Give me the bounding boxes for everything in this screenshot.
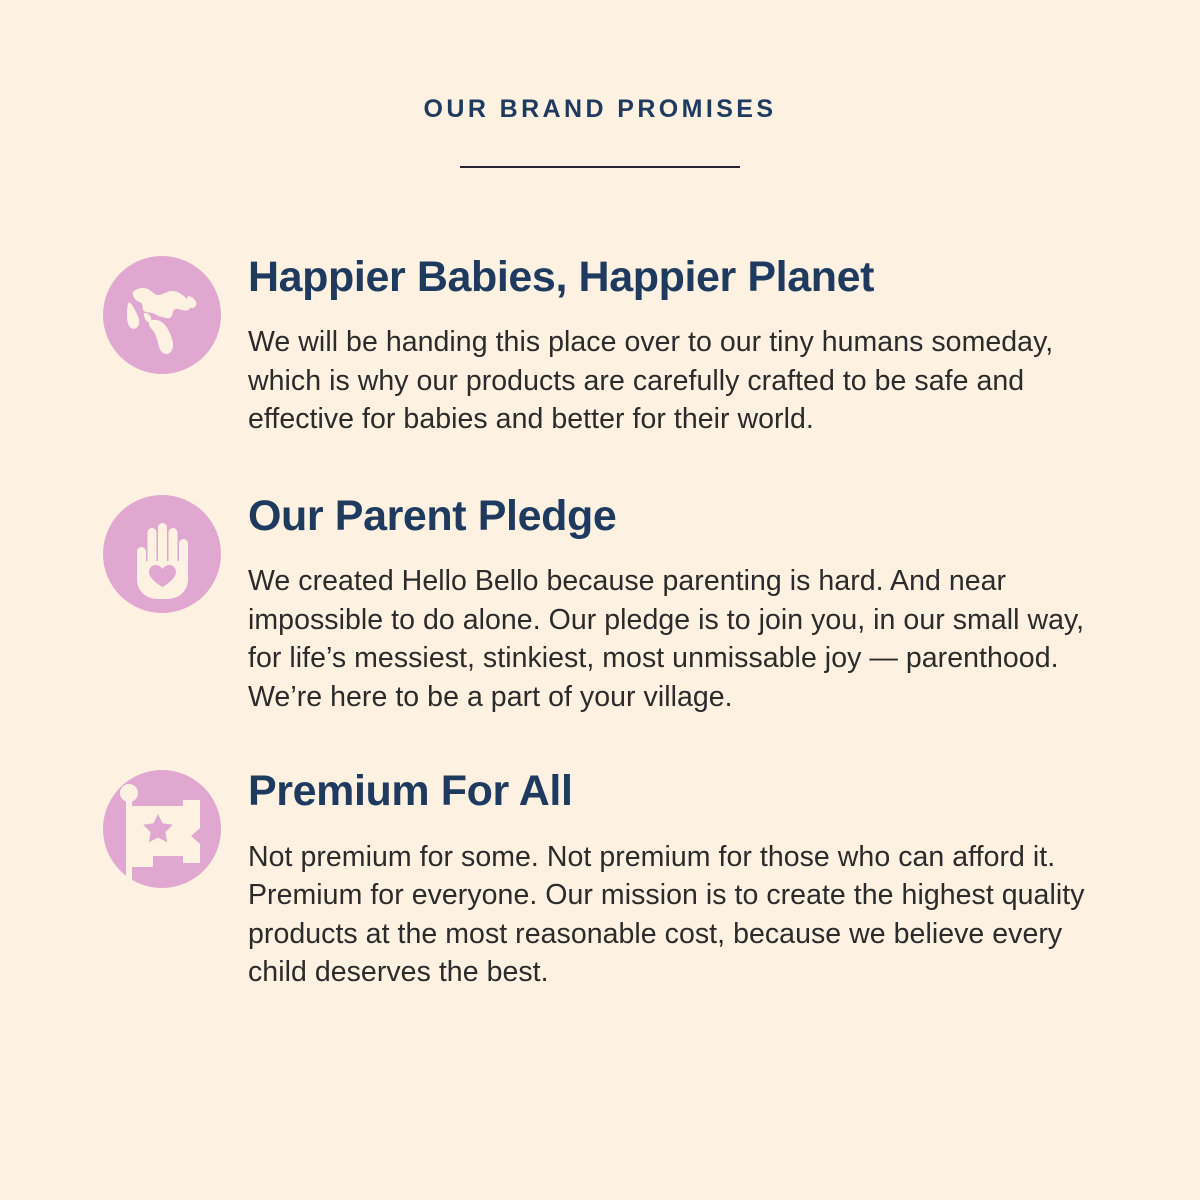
page-title: OUR BRAND PROMISES [0, 96, 1200, 124]
header: OUR BRAND PROMISES [0, 96, 1200, 168]
promise-heading: Our Parent Pledge [248, 493, 1100, 539]
globe-icon [103, 256, 221, 374]
flag-star-icon [103, 770, 221, 888]
promise-item-our-parent-pledge: Our Parent Pledge We created Hello Bello… [0, 493, 1200, 716]
header-divider [460, 166, 740, 168]
promise-item-happier-babies-happier-planet: Happier Babies, Happier Planet We will b… [0, 254, 1200, 439]
promise-body: Not premium for some. Not premium for th… [248, 838, 1100, 992]
promise-heading: Premium For All [248, 768, 1100, 814]
promise-heading: Happier Babies, Happier Planet [248, 254, 1100, 300]
brand-promises-page: OUR BRAND PROMISES [0, 0, 1200, 1200]
promise-body: We will be handing this place over to ou… [248, 323, 1078, 439]
promise-item-premium-for-all: Premium For All Not premium for some. No… [0, 768, 1200, 991]
promise-body: We created Hello Bello because parenting… [248, 562, 1100, 716]
promise-list: Happier Babies, Happier Planet We will b… [0, 228, 1200, 992]
hand-heart-icon [103, 495, 221, 613]
